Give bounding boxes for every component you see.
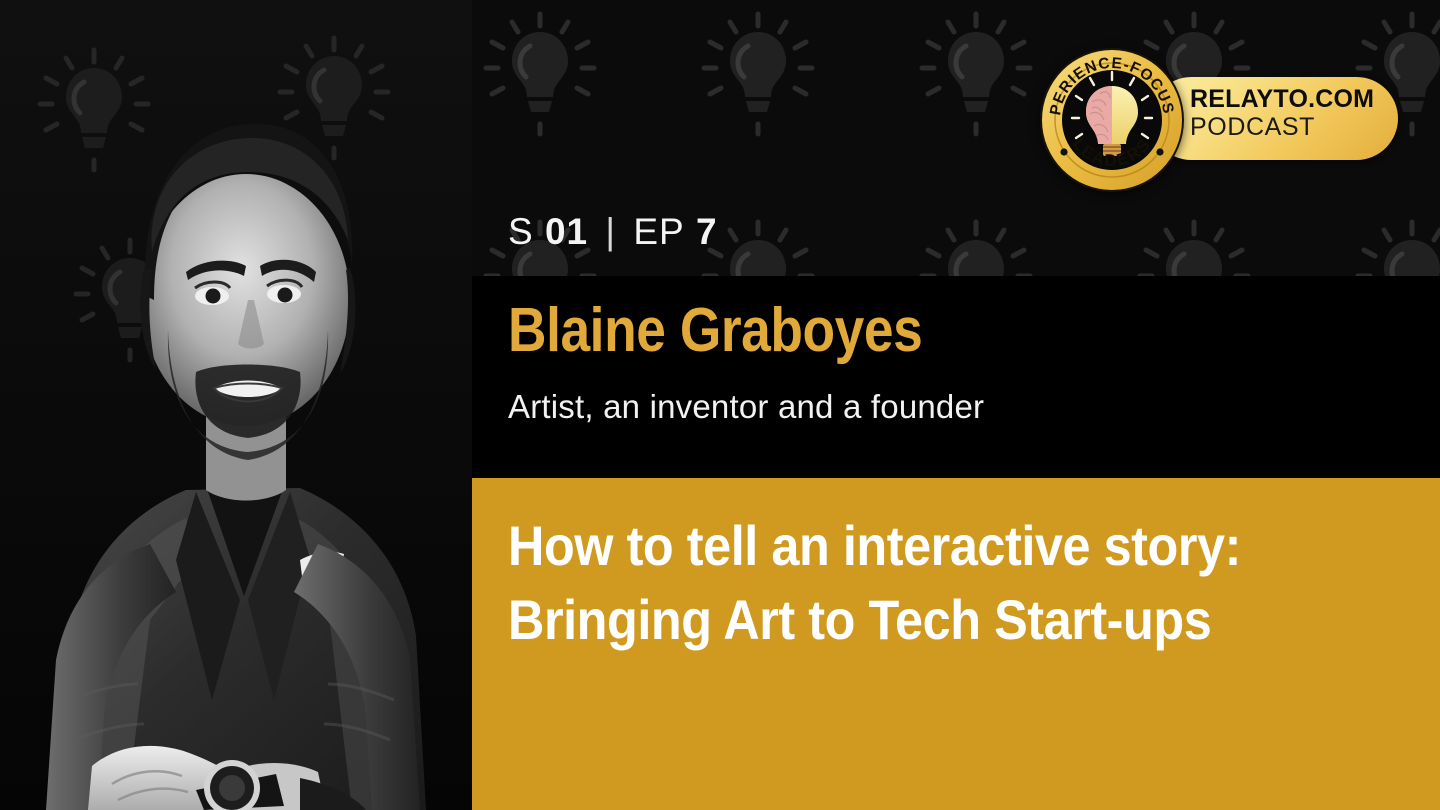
season-number: 01: [545, 211, 588, 252]
experience-focused-leaders-badge-icon: EXPERIENCE-FOCUSED LEADERS: [1038, 46, 1186, 194]
episode-number: 7: [696, 211, 718, 252]
episode-title-line-1: How to tell an interactive story:: [508, 509, 1318, 583]
season-episode-line: S 01 | EP 7: [508, 213, 718, 250]
brand-podcast-label: PODCAST: [1190, 115, 1400, 140]
guest-band: Blaine Graboyes Artist, an inventor and …: [472, 276, 1440, 478]
episode-title-line-2: Bringing Art to Tech Start-ups: [508, 583, 1318, 657]
episode-label: EP: [633, 211, 684, 252]
brand-logo-lockup[interactable]: EXPERIENCE-FOCUSED LEADERS RELAYTO.COM P…: [1038, 46, 1398, 194]
brand-pill-text: RELAYTO.COM PODCAST: [1190, 87, 1400, 140]
brand-domain-label: RELAYTO.COM: [1190, 87, 1400, 112]
guest-photo: [0, 0, 472, 810]
podcast-cover: EXPERIENCE-FOCUSED LEADERS RELAYTO.COM P…: [0, 0, 1440, 810]
season-episode-separator: |: [605, 211, 616, 252]
episode-title-band: How to tell an interactive story: Bringi…: [472, 478, 1440, 810]
episode-title: How to tell an interactive story: Bringi…: [508, 509, 1318, 658]
guest-name: Blaine Graboyes: [508, 300, 922, 362]
guest-role: Artist, an inventor and a founder: [508, 390, 984, 423]
season-label: S: [508, 211, 534, 252]
